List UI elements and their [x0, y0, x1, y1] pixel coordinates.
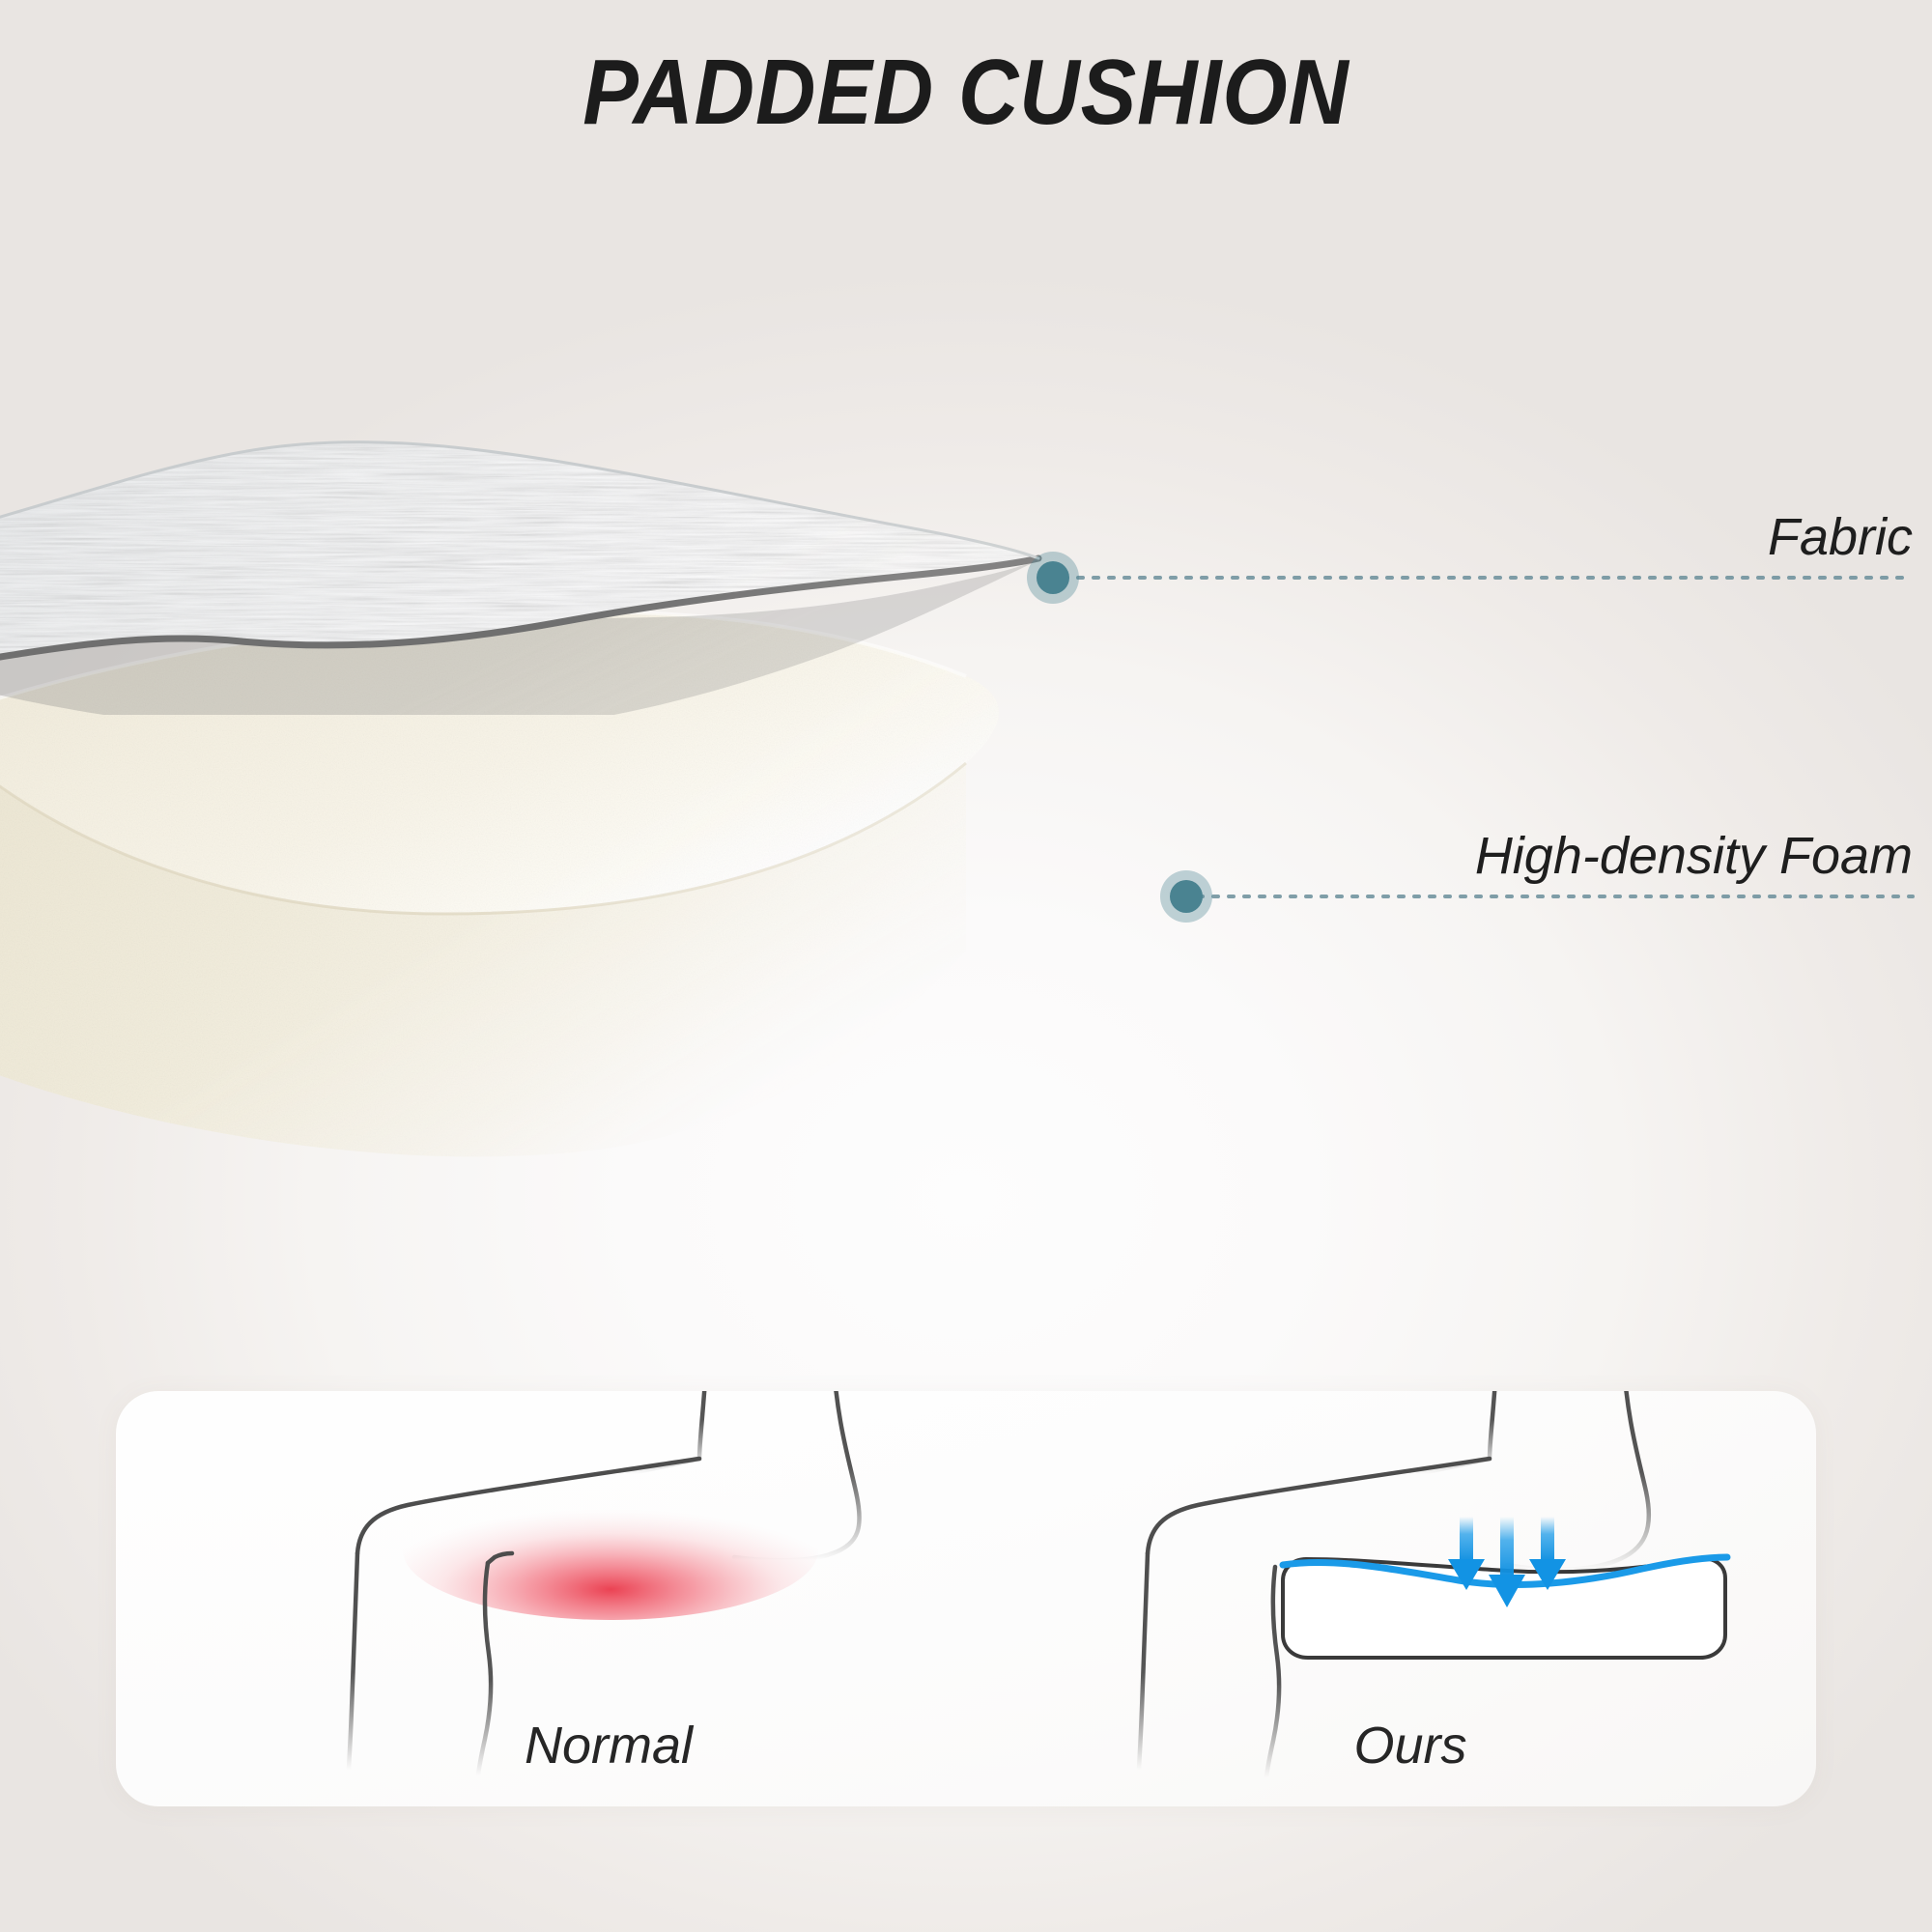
comparison-caption-normal: Normal [309, 1716, 908, 1776]
infographic-page: PADDED CUSHION [0, 0, 1932, 1932]
comparison-panel: Normal Ours [116, 1391, 1816, 1806]
exploded-product-diagram [0, 0, 1932, 1352]
callout-dot [1037, 561, 1069, 594]
pressure-glow [403, 1481, 818, 1620]
callout-label-foam: High-density Foam [1475, 826, 1913, 886]
callout-dot [1170, 880, 1203, 913]
comparison-caption-ours: Ours [1111, 1716, 1710, 1776]
callout-label-fabric: Fabric [1768, 507, 1913, 567]
